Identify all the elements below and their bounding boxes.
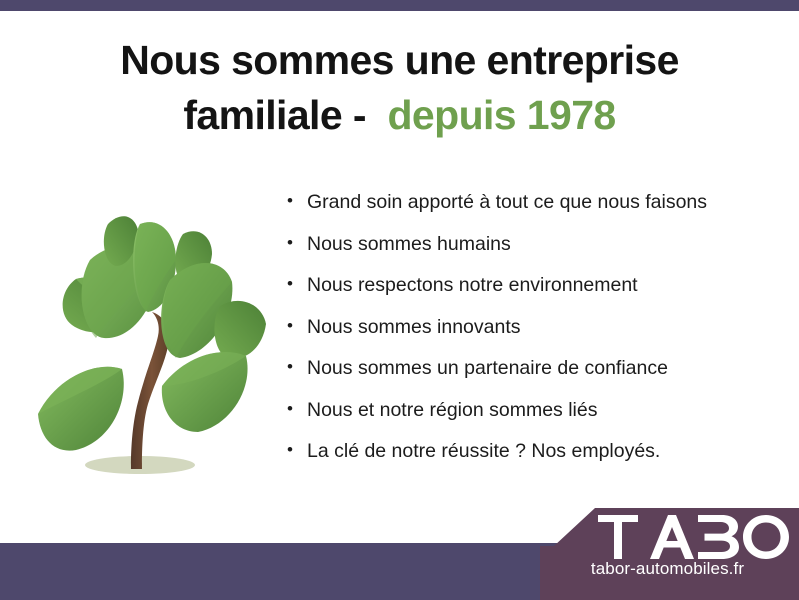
- tree-illustration: [18, 188, 268, 484]
- slide-canvas: Nous sommes une entreprise familiale - d…: [0, 0, 799, 600]
- tabor-wordmark: [598, 515, 794, 559]
- tree-leaves: [38, 216, 266, 450]
- logo-tagline: tabor-automobiles.fr: [540, 558, 799, 580]
- page-title-spacer: [377, 92, 388, 138]
- list-item: Grand soin apporté à tout ce que nous fa…: [286, 188, 776, 216]
- page-title: Nous sommes une entreprise familiale - d…: [0, 33, 799, 143]
- page-title-accent: depuis 1978: [387, 92, 615, 138]
- list-item: Nous sommes humains: [286, 230, 776, 258]
- values-list: Grand soin apporté à tout ce que nous fa…: [286, 188, 776, 479]
- page-title-line-2-plain: familiale -: [183, 92, 376, 138]
- page-title-line-2: familiale - depuis 1978: [0, 88, 799, 143]
- brand-logo-panel[interactable]: tabor-automobiles.fr: [540, 506, 799, 600]
- top-accent-bar: [0, 0, 799, 11]
- list-item: Nous et notre région sommes liés: [286, 396, 776, 424]
- page-title-line-1: Nous sommes une entreprise: [0, 33, 799, 88]
- list-item: La clé de notre réussite ? Nos employés.: [286, 437, 776, 465]
- list-item: Nous sommes innovants: [286, 313, 776, 341]
- list-item: Nous sommes un partenaire de confiance: [286, 354, 776, 382]
- list-item: Nous respectons notre environnement: [286, 271, 776, 299]
